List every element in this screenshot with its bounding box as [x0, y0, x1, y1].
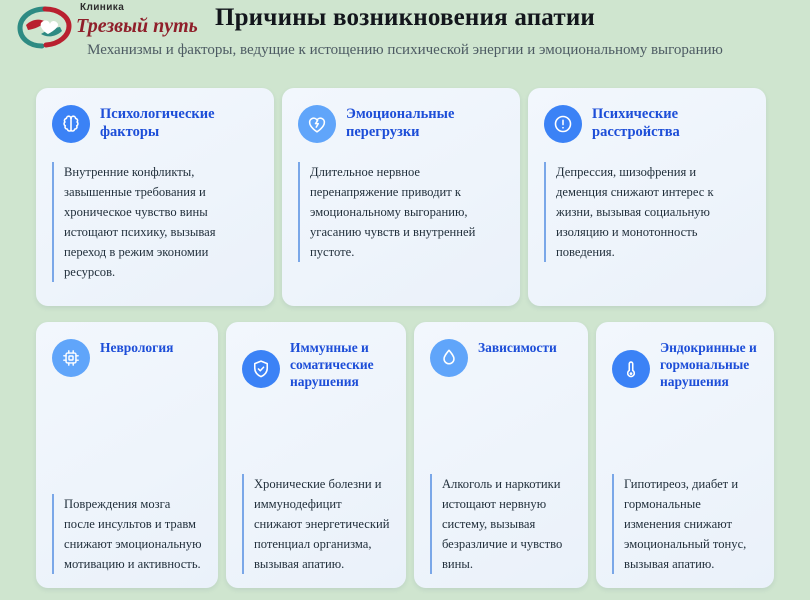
card-mental-disorders[interactable]: Психические расстройства Депрессия, шизо…	[528, 88, 766, 306]
card-title: Иммунные и соматические нарушения	[290, 338, 390, 390]
card-text: Алкоголь и наркотики истощают нервную си…	[430, 474, 572, 574]
card-header: Психологические факторы	[52, 104, 258, 148]
infographic-page: Клиника Трезвый путь Причины возникновен…	[0, 0, 810, 600]
card-addictions[interactable]: Зависимости Алкоголь и наркотики истощаю…	[414, 322, 588, 588]
card-header: Психические расстройства	[544, 104, 750, 148]
card-neurology[interactable]: Неврология Повреждения мозга после инсул…	[36, 322, 218, 588]
card-text: Внутренние конфликты, завышенные требова…	[52, 162, 258, 282]
microchip-icon	[52, 339, 90, 377]
card-text: Гипотиреоз, диабет и гормональные измене…	[612, 474, 758, 574]
card-header: Эмоциональные перегрузки	[298, 104, 504, 148]
card-header: Зависимости	[430, 338, 572, 382]
card-text: Хронические болезни и иммунодефицит сниж…	[242, 474, 390, 574]
card-text: Повреждения мозга после инсультов и трав…	[52, 494, 202, 574]
card-row-1: Психологические факторы Внутренние конфл…	[36, 88, 774, 306]
card-text: Депрессия, шизофрения и деменция снижают…	[544, 162, 750, 262]
card-title: Эмоциональные перегрузки	[346, 104, 504, 141]
broken-heart-icon	[298, 105, 336, 143]
card-header: Неврология	[52, 338, 202, 382]
thermometer-icon	[612, 350, 650, 388]
card-endocrine-hormonal-disorders[interactable]: Эндокринные и гормональные нарушения Гип…	[596, 322, 774, 588]
card-title: Эндокринные и гормональные нарушения	[660, 338, 758, 390]
card-title: Неврология	[100, 338, 173, 356]
page-subtitle: Механизмы и факторы, ведущие к истощению…	[0, 42, 810, 59]
spacer	[430, 382, 572, 474]
shield-check-icon	[242, 350, 280, 388]
card-title: Зависимости	[478, 338, 557, 356]
exclamation-circle-icon	[544, 105, 582, 143]
page-title: Причины возникновения апатии	[0, 4, 810, 32]
page-header: Клиника Трезвый путь Причины возникновен…	[0, 0, 810, 70]
water-drop-icon	[430, 339, 468, 377]
brain-icon	[52, 105, 90, 143]
card-text: Длительное нервное перенапряжение привод…	[298, 162, 504, 262]
card-psychological-factors[interactable]: Психологические факторы Внутренние конфл…	[36, 88, 274, 306]
card-row-2: Неврология Повреждения мозга после инсул…	[36, 322, 774, 588]
card-header: Иммунные и соматические нарушения	[242, 338, 390, 390]
spacer	[52, 382, 202, 494]
card-immune-somatic-disorders[interactable]: Иммунные и соматические нарушения Хронич…	[226, 322, 406, 588]
card-title: Психологические факторы	[100, 104, 258, 141]
card-header: Эндокринные и гормональные нарушения	[612, 338, 758, 390]
card-title: Психические расстройства	[592, 104, 750, 141]
card-emotional-overload[interactable]: Эмоциональные перегрузки Длительное нерв…	[282, 88, 520, 306]
